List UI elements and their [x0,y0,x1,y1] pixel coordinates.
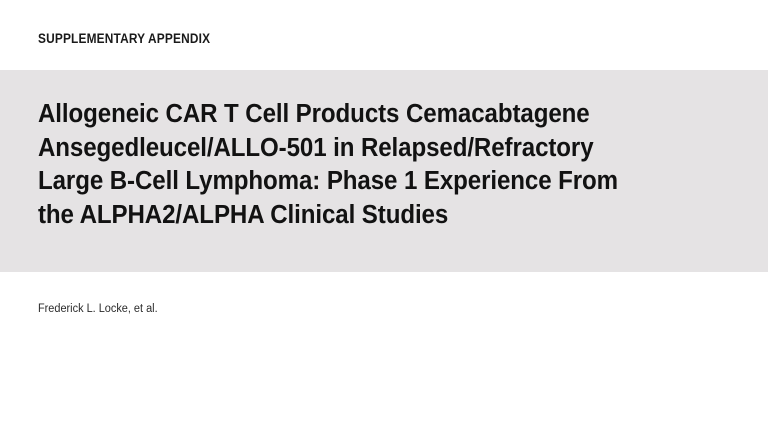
body-area: Frederick L. Locke, et al. [0,272,768,432]
supplementary-appendix-kicker: SUPPLEMENTARY APPENDIX [38,31,210,46]
title-line-3: Large B-Cell Lymphoma: Phase 1 Experienc… [38,165,662,199]
title-band: Allogeneic CAR T Cell Products Cemacabta… [0,70,768,272]
author-byline: Frederick L. Locke, et al. [38,302,158,316]
title-line-1: Allogeneic CAR T Cell Products Cemacabta… [38,98,662,132]
page-title: Allogeneic CAR T Cell Products Cemacabta… [38,98,698,232]
title-line-4: the ALPHA2/ALPHA Clinical Studies [38,199,662,233]
title-line-2: Ansegedleucel/ALLO-501 in Relapsed/Refra… [38,132,662,166]
title-slide: SUPPLEMENTARY APPENDIX Allogeneic CAR T … [0,0,768,432]
header-strip: SUPPLEMENTARY APPENDIX [0,0,768,70]
